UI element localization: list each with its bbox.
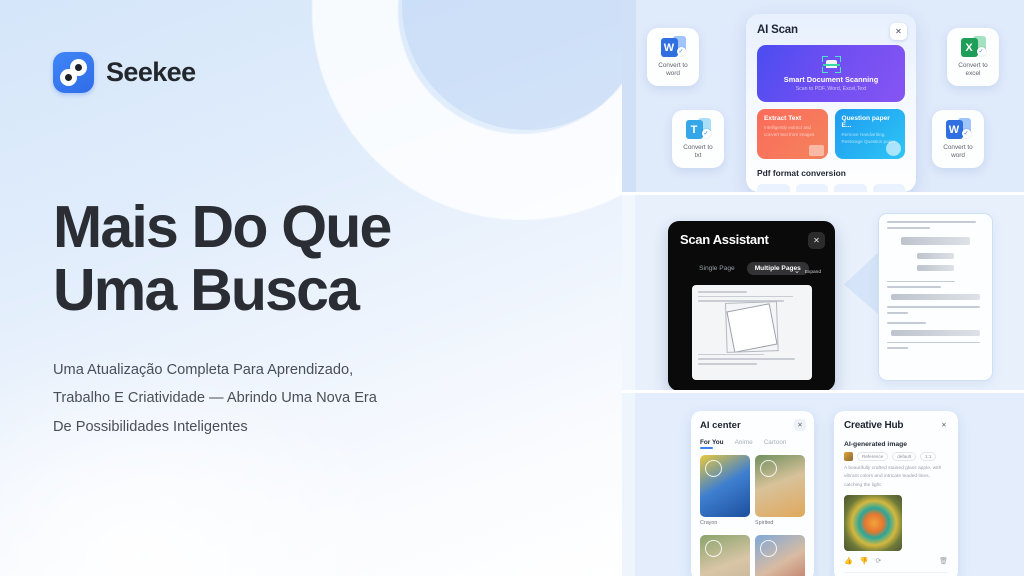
tile-thumb-icon <box>809 145 824 156</box>
reference-thumb-icon <box>844 452 853 461</box>
convert-to-txt-card[interactable]: T✓ Convert to txt <box>672 110 724 168</box>
item-title: AI-generated image <box>844 441 948 448</box>
headline-line-2: Uma Busca <box>53 259 573 322</box>
chip-ratio: 1:1 <box>920 452 936 461</box>
math-notes-card[interactable] <box>878 213 993 381</box>
geometry-figure <box>726 303 777 353</box>
convert-card-label: Convert to excel <box>958 62 987 78</box>
excel-doc-icon: X✓ <box>961 36 986 57</box>
chip-reference: Reference <box>857 452 888 461</box>
scan-assistant-title: Scan Assistant <box>680 232 823 247</box>
tab-anime[interactable]: Anime <box>735 439 753 449</box>
document-scan-icon <box>822 56 841 73</box>
item-chips: Reference default 1:1 <box>844 452 948 461</box>
generated-image[interactable] <box>844 495 902 551</box>
gallery-thumb[interactable] <box>755 535 805 576</box>
trash-icon[interactable]: 🗑 <box>939 557 948 565</box>
expand-button[interactable]: ⌄ Expand <box>794 260 821 278</box>
gallery-thumb[interactable] <box>755 455 805 517</box>
convert-to-word-card-right[interactable]: W✓ Convert to word <box>932 110 984 168</box>
creative-hub-title: Creative Hub <box>844 420 948 431</box>
convert-to-word-card-left[interactable]: W✓ Convert to word <box>647 28 699 86</box>
page-title: Mais Do Que Uma Busca <box>53 196 573 322</box>
extract-text-tile[interactable]: Extract Text Intelligently extract and c… <box>757 109 828 159</box>
showcase-band-scan: W✓ Convert to word T✓ Convert to txt X <box>622 0 1024 192</box>
tile-title: Extract Text <box>764 115 821 122</box>
band-edge <box>622 393 635 576</box>
pdf-format-icon[interactable] <box>834 184 867 192</box>
txt-doc-icon: T✓ <box>686 118 711 139</box>
pdf-format-icon[interactable] <box>873 184 906 192</box>
ai-center-gallery: Crayon Spirited <box>700 455 805 576</box>
band-edge <box>622 195 635 390</box>
headline-line-1: Mais Do Que <box>53 194 391 260</box>
ai-scan-title: AI Scan <box>757 24 905 36</box>
tile-thumb-icon <box>886 141 901 156</box>
tile-desc: Intelligently extract and convert text f… <box>764 125 821 138</box>
avatar <box>760 460 777 477</box>
convert-card-label: Convert to word <box>943 144 972 160</box>
close-icon[interactable]: ✕ <box>808 232 825 249</box>
gallery-thumb[interactable] <box>700 455 750 517</box>
single-page-option[interactable]: Single Page <box>694 262 740 275</box>
avatar <box>760 540 777 557</box>
thumbs-down-icon[interactable]: 👎 <box>860 557 869 565</box>
pdf-conversion-label: Pdf format conversion <box>757 168 905 178</box>
avatar <box>705 460 722 477</box>
subhead-line-2: Trabalho E Criatividade — Abrindo Uma No… <box>53 390 377 406</box>
close-icon[interactable]: ✕ <box>938 419 950 431</box>
scan-tiles: Extract Text Intelligently extract and c… <box>757 109 905 159</box>
tab-for-you[interactable]: For You <box>700 439 724 449</box>
word-doc-icon: W✓ <box>661 36 686 57</box>
close-icon[interactable]: ✕ <box>890 23 907 40</box>
brand-logo[interactable]: Seekee <box>53 52 196 93</box>
hero-panel: Seekee Mais Do Que Uma Busca Uma Atualiz… <box>0 0 622 576</box>
decorative-ring <box>312 0 622 220</box>
expand-label: Expand <box>805 270 821 275</box>
close-icon[interactable]: ✕ <box>794 419 806 431</box>
ai-scan-panel: AI Scan ✕ Smart Document Scanning Scan t… <box>746 14 916 192</box>
pdf-conversion-icons <box>757 184 905 192</box>
seekee-logo-icon <box>53 52 94 93</box>
tab-cartoon[interactable]: Cartoon <box>764 439 787 449</box>
thumb-caption: Spirited <box>755 520 805 526</box>
smart-scan-title: Smart Document Scanning <box>784 75 878 84</box>
ai-center-title: AI center <box>700 420 805 431</box>
creative-hub-panel: Creative Hub ✕ AI-generated image Refere… <box>834 411 958 576</box>
item-description: A beautifully crafted stained glass appl… <box>844 465 948 490</box>
pdf-format-icon[interactable] <box>796 184 829 192</box>
subhead-line-1: Uma Atualização Completa Para Aprendizad… <box>53 362 353 378</box>
ai-center-tabs: For You Anime Cartoon <box>700 439 805 449</box>
convert-card-label: Convert to word <box>658 62 687 78</box>
showcase-band-assistant: Scan Assistant ✕ Single Page Multiple Pa… <box>622 195 1024 390</box>
generated-image-item: AI-generated image Reference default 1:1… <box>844 441 948 565</box>
smart-scan-subtitle: Scan to PDF, Word, Excel,Text <box>796 86 867 92</box>
item-actions: 👍 👎 ⟳ 🗑 <box>844 557 948 565</box>
convert-to-excel-card[interactable]: X✓ Convert to excel <box>947 28 999 86</box>
scanned-page-preview[interactable] <box>692 285 812 380</box>
chip-style: default <box>892 452 916 461</box>
showcase-band-creative: AI center ✕ For You Anime Cartoon Crayon… <box>622 393 1024 576</box>
pdf-conversion-section: Pdf format conversion <box>757 168 905 192</box>
scan-assistant-panel: Scan Assistant ✕ Single Page Multiple Pa… <box>668 221 835 390</box>
thumb-caption: Crayon <box>700 520 750 526</box>
gallery-thumb[interactable] <box>700 535 750 576</box>
refresh-icon[interactable]: ⟳ <box>875 557 881 565</box>
divider <box>844 572 948 573</box>
thumbs-up-icon[interactable]: 👍 <box>844 557 853 565</box>
ai-center-panel: AI center ✕ For You Anime Cartoon Crayon… <box>691 411 814 576</box>
page-mode-toggle: Single Page Multiple Pages ⌄ Expand <box>680 262 823 275</box>
page-subtitle: Uma Atualização Completa Para Aprendizad… <box>53 356 473 441</box>
band-edge <box>622 0 636 192</box>
word-doc-icon: W✓ <box>946 118 971 139</box>
avatar <box>705 540 722 557</box>
tile-title: Question paper E... <box>842 115 899 129</box>
brand-name: Seekee <box>106 57 196 88</box>
showcase-column: W✓ Convert to word T✓ Convert to txt X <box>622 0 1024 576</box>
smart-scan-banner[interactable]: Smart Document Scanning Scan to PDF, Wor… <box>757 45 905 102</box>
convert-card-label: Convert to txt <box>683 144 712 160</box>
pdf-format-icon[interactable] <box>757 184 790 192</box>
question-paper-tile[interactable]: Question paper E... Remove Handwriting, … <box>835 109 906 159</box>
subhead-line-3: De Possibilidades Inteligentes <box>53 419 248 435</box>
slide-canvas: Seekee Mais Do Que Uma Busca Uma Atualiz… <box>0 0 1024 576</box>
chevron-down-icon: ⌄ <box>794 266 801 275</box>
